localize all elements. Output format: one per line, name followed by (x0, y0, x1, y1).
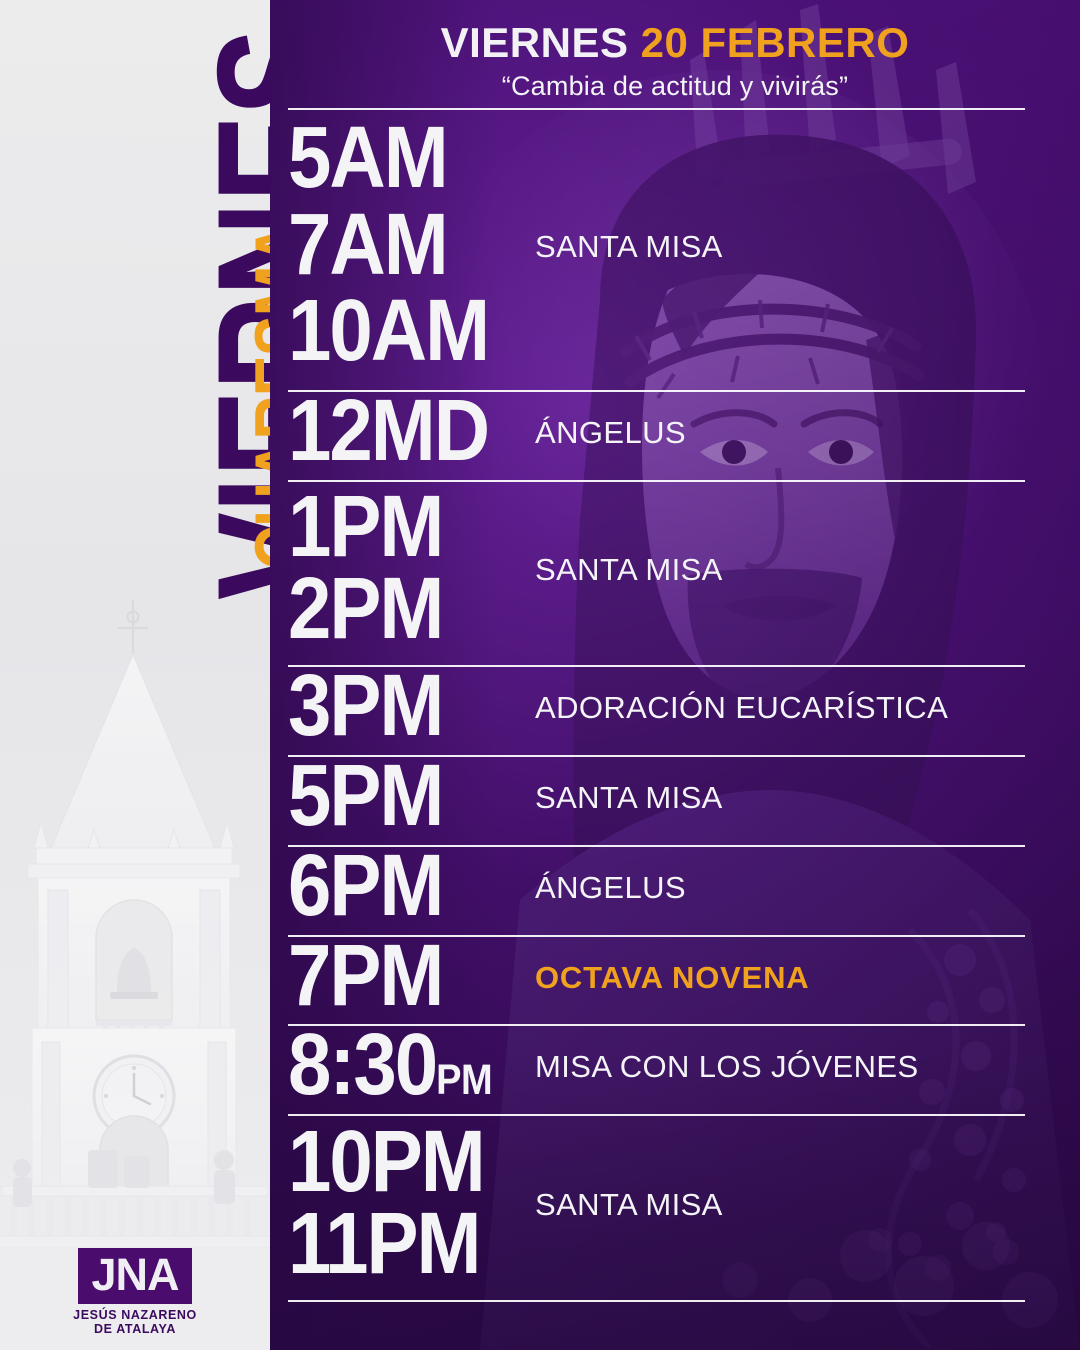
schedule-time: 5AM (288, 118, 447, 197)
schedule-time: 1PM (288, 487, 442, 566)
schedule-time-value: 8:30 (288, 1015, 436, 1114)
schedule-description: MISA CON LOS JÓVENES (535, 1049, 919, 1085)
header-title-line: VIERNES 20 FEBRERO (270, 22, 1080, 64)
logo-mark: JNA (78, 1248, 191, 1304)
schedule-time-suffix: PM (436, 1058, 492, 1105)
vertical-title-sub: CUARESMA (237, 223, 270, 570)
header-day: VIERNES (441, 19, 629, 66)
schedule-description: SANTA MISA (535, 552, 723, 588)
row-divider (288, 1300, 1025, 1302)
schedule-group: 3PMADORACIÓN EUCARÍSTICA (270, 665, 1080, 755)
schedule-time: 7PM (288, 935, 442, 1014)
schedule-group: 12MDÁNGELUS (270, 390, 1080, 480)
schedule-description: SANTA MISA (535, 1187, 723, 1223)
schedule-group: 5PMSANTA MISA (270, 755, 1080, 845)
jna-logo: JNA JESÚS NAZARENO DE ATALAYA (0, 1248, 270, 1336)
schedule-time: 6PM (288, 846, 442, 925)
schedule-group: 6PMÁNGELUS (270, 845, 1080, 935)
vertical-title: VIERNES CUARESMA (0, 0, 270, 640)
header-date: 20 FEBRERO (641, 19, 910, 66)
schedule-group: 1PM2PMSANTA MISA (270, 480, 1080, 666)
schedule-description: ADORACIÓN EUCARÍSTICA (535, 690, 948, 726)
logo-line-1: JESÚS NAZARENO (0, 1308, 270, 1322)
left-panel: VIERNES CUARESMA JNA JESÚS NAZARENO DE A… (0, 0, 270, 1350)
header-subtitle: “Cambia de actitud y vivirás” (270, 71, 1080, 102)
schedule-group: 5AM7AM10AMSANTA MISA (270, 108, 1080, 390)
schedule-description: SANTA MISA (535, 229, 723, 265)
schedule-time: 11PM (288, 1204, 479, 1283)
schedule-time: 5PM (288, 756, 442, 835)
schedule-time: 8:30PM (288, 1025, 492, 1104)
schedule-panel: VIERNES 20 FEBRERO “Cambia de actitud y … (270, 0, 1080, 1350)
schedule-time: 12MD (288, 390, 488, 469)
schedule-description: OCTAVA NOVENA (535, 960, 809, 996)
schedule-description: ÁNGELUS (535, 415, 686, 451)
schedule-description: SANTA MISA (535, 780, 723, 816)
schedule-group: 7PMOCTAVA NOVENA (270, 935, 1080, 1025)
schedule-group: 10PM11PMSANTA MISA (270, 1114, 1080, 1300)
schedule-time: 10AM (288, 291, 488, 370)
schedule-content: VIERNES 20 FEBRERO “Cambia de actitud y … (270, 0, 1080, 1350)
schedule-group: 8:30PMMISA CON LOS JÓVENES (270, 1024, 1080, 1114)
poster: VIERNES CUARESMA JNA JESÚS NAZARENO DE A… (0, 0, 1080, 1350)
church-tower-illustration (0, 590, 270, 1350)
schedule-time: 7AM (288, 205, 447, 284)
schedule-time: 2PM (288, 569, 442, 648)
poster-header: VIERNES 20 FEBRERO “Cambia de actitud y … (270, 22, 1080, 102)
schedule-time: 10PM (288, 1122, 484, 1201)
schedule-description: ÁNGELUS (535, 870, 686, 906)
schedule-time: 3PM (288, 666, 442, 745)
logo-line-2: DE ATALAYA (0, 1322, 270, 1336)
